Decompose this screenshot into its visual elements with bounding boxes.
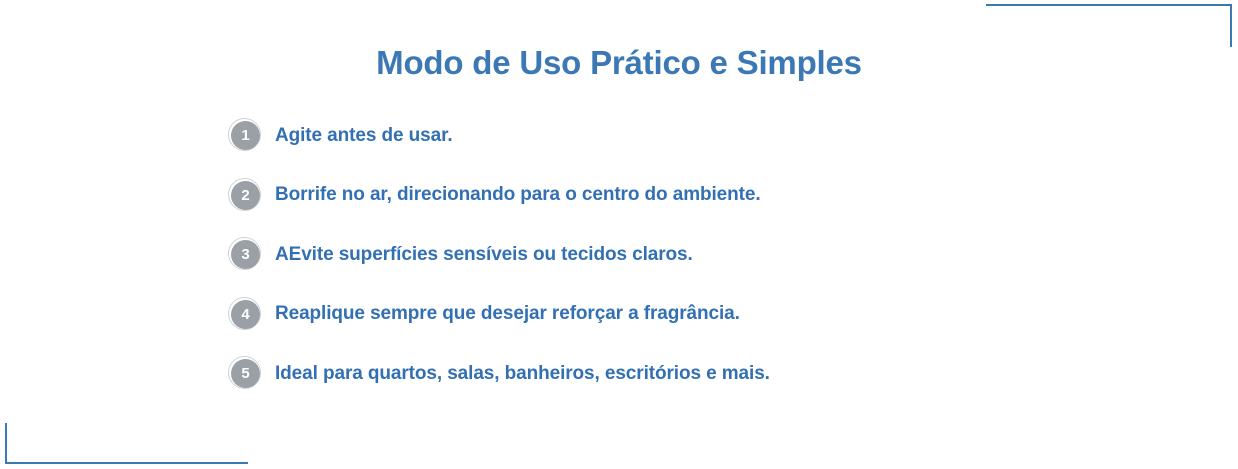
list-item: 1 Agite antes de usar. bbox=[228, 118, 1128, 153]
step-number-badge: 1 bbox=[228, 118, 263, 153]
step-text: Ideal para quartos, salas, banheiros, es… bbox=[275, 363, 770, 385]
step-text: AEvite superfícies sensíveis ou tecidos … bbox=[275, 244, 693, 266]
step-number-badge: 3 bbox=[228, 237, 263, 272]
step-text: Reaplique sempre que desejar reforçar a … bbox=[275, 303, 740, 325]
corner-bracket-bottom-left-horizontal bbox=[5, 462, 248, 464]
corner-bracket-top-right-horizontal bbox=[986, 4, 1232, 6]
list-item: 5 Ideal para quartos, salas, banheiros, … bbox=[228, 356, 1128, 391]
step-number-label: 2 bbox=[231, 181, 260, 210]
list-item: 2 Borrife no ar, direcionando para o cen… bbox=[228, 178, 1128, 213]
step-number-badge: 2 bbox=[228, 178, 263, 213]
step-number-label: 1 bbox=[231, 121, 260, 150]
list-item: 4 Reaplique sempre que desejar reforçar … bbox=[228, 297, 1128, 332]
corner-bracket-top-right-vertical bbox=[1230, 4, 1232, 47]
step-number-label: 3 bbox=[231, 240, 260, 269]
step-number-badge: 5 bbox=[228, 356, 263, 391]
slide-canvas: Modo de Uso Prático e Simples 1 Agite an… bbox=[0, 0, 1238, 469]
list-item: 3 AEvite superfícies sensíveis ou tecido… bbox=[228, 237, 1128, 272]
step-number-label: 5 bbox=[231, 359, 260, 388]
corner-bracket-bottom-left-vertical bbox=[5, 423, 7, 464]
step-text: Borrife no ar, direcionando para o centr… bbox=[275, 184, 761, 206]
page-title: Modo de Uso Prático e Simples bbox=[0, 44, 1238, 82]
step-number-label: 4 bbox=[231, 300, 260, 329]
steps-list: 1 Agite antes de usar. 2 Borrife no ar, … bbox=[228, 118, 1128, 416]
step-number-badge: 4 bbox=[228, 297, 263, 332]
step-text: Agite antes de usar. bbox=[275, 125, 453, 147]
